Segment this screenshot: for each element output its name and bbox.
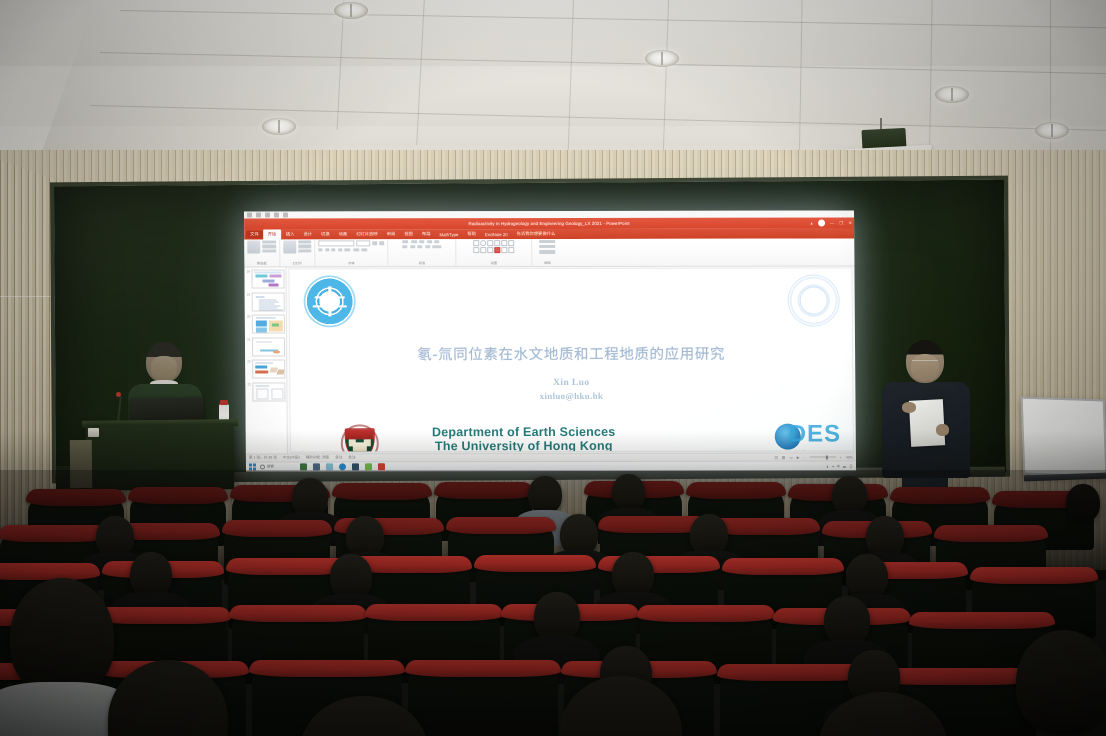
- tab-file[interactable]: 文件: [246, 231, 263, 239]
- thumbnail-preview[interactable]: [252, 359, 285, 378]
- shape-triangle-icon[interactable]: [501, 240, 507, 246]
- shape-gallery[interactable]: [473, 240, 514, 253]
- tab-insert[interactable]: 插入: [281, 231, 299, 237]
- tab-transitions[interactable]: 切换: [317, 231, 335, 237]
- ribbon-group-clipboard[interactable]: 剪贴板: [244, 239, 280, 266]
- account-avatar[interactable]: [818, 220, 825, 227]
- close-button[interactable]: ✕: [848, 220, 852, 226]
- cut-icon[interactable]: [262, 240, 276, 243]
- minimize-button[interactable]: —: [830, 221, 835, 226]
- copy-icon[interactable]: [262, 245, 276, 248]
- shadow-icon[interactable]: [338, 248, 342, 251]
- align-left-icon[interactable]: [402, 245, 407, 248]
- thumbnail-preview[interactable]: [252, 337, 285, 356]
- slide-title: 氡-氚同位素在水文地质和工程地质的应用研究: [290, 342, 852, 364]
- layout-icon[interactable]: [298, 240, 311, 243]
- shape-more-icon[interactable]: [508, 240, 514, 246]
- increase-font-icon[interactable]: [372, 242, 377, 245]
- audience-head: [534, 592, 580, 642]
- ceiling-downlight: [334, 2, 368, 19]
- thumbnail-number: 18: [247, 270, 250, 274]
- thumbnail-preview[interactable]: [252, 314, 285, 333]
- ceiling-downlight: [645, 50, 679, 67]
- ceiling-downlight: [1035, 122, 1069, 139]
- font-family-combo[interactable]: [318, 240, 354, 246]
- section-icon[interactable]: [298, 249, 311, 252]
- underline-icon[interactable]: [331, 248, 335, 251]
- audience-head: [612, 474, 645, 511]
- customize-toolbar-icon[interactable]: [283, 212, 288, 217]
- thumbnail-item[interactable]: 19: [246, 292, 285, 311]
- tab-design[interactable]: 设计: [299, 231, 317, 237]
- bullets-icon[interactable]: [402, 240, 408, 243]
- microphone-icon: [116, 392, 121, 397]
- cug-watermark-icon: [787, 274, 839, 326]
- decrease-font-icon[interactable]: [379, 242, 384, 245]
- line-spacing-icon[interactable]: [434, 240, 439, 243]
- group-label-drawing: 绘图: [491, 260, 498, 265]
- numbering-icon[interactable]: [411, 240, 417, 243]
- align-center-icon[interactable]: [410, 245, 415, 248]
- select-icon[interactable]: [539, 250, 555, 253]
- paste-icon[interactable]: [247, 241, 260, 254]
- shape-star-icon[interactable]: [480, 247, 486, 253]
- thumbnail-number: 21: [247, 337, 250, 341]
- strikethrough-icon[interactable]: [344, 248, 350, 251]
- group-label-clipboard: 剪贴板: [257, 260, 267, 265]
- bold-icon[interactable]: [318, 248, 322, 251]
- thumbnail-item[interactable]: 22: [246, 359, 285, 378]
- ribbon-group-slides[interactable]: 幻灯片: [280, 239, 315, 266]
- shape-line-icon[interactable]: [494, 240, 500, 246]
- group-label-font: 字体: [348, 260, 355, 265]
- thumbnail-number: 23: [247, 382, 250, 386]
- audience-head-foreground: [10, 578, 114, 696]
- char-spacing-icon[interactable]: [353, 248, 359, 251]
- tab-endnote[interactable]: EndNote 20: [480, 232, 512, 237]
- auditorium-seating: [0, 470, 1106, 736]
- ribbon-options-icon[interactable]: ▴: [810, 220, 812, 226]
- thumbnail-preview[interactable]: [252, 292, 285, 311]
- tab-view[interactable]: 视图: [400, 231, 418, 237]
- shape-outline-icon[interactable]: [501, 247, 507, 253]
- thumbnail-number: 22: [247, 360, 250, 364]
- shape-effects-icon[interactable]: [508, 247, 514, 253]
- replace-icon[interactable]: [539, 245, 555, 248]
- podium-person-face: [151, 356, 177, 380]
- audience-head: [528, 476, 562, 514]
- shape-arrow-icon[interactable]: [487, 240, 493, 246]
- thumbnail-item[interactable]: 23: [246, 382, 285, 401]
- thumbnail-item[interactable]: 20: [246, 314, 285, 333]
- ceiling-downlight: [262, 118, 296, 135]
- redo-icon[interactable]: [265, 212, 270, 217]
- tab-home[interactable]: 开始: [263, 229, 282, 239]
- window-controls[interactable]: ▴ — ❐ ✕: [810, 217, 852, 228]
- thumbnail-preview[interactable]: [252, 382, 285, 401]
- save-icon[interactable]: [247, 213, 252, 218]
- font-color-icon[interactable]: [361, 248, 367, 251]
- tab-review[interactable]: 审阅: [382, 231, 400, 237]
- thumbnail-preview[interactable]: [251, 269, 284, 288]
- presenter-face: [911, 354, 939, 381]
- audience-head: [824, 596, 870, 646]
- columns-icon[interactable]: [432, 245, 441, 248]
- slide-thumbnail-pane[interactable]: 18 19: [244, 267, 287, 453]
- window-title: Radioactivity in Hydrogeology and Engine…: [468, 221, 629, 226]
- decrease-indent-icon[interactable]: [419, 240, 424, 243]
- tab-slideshow[interactable]: 幻灯片放映: [352, 231, 383, 237]
- thumbnail-number: 19: [247, 292, 250, 296]
- new-slide-icon[interactable]: [283, 240, 296, 253]
- increase-indent-icon[interactable]: [427, 240, 432, 243]
- start-slideshow-icon[interactable]: [274, 212, 279, 217]
- ribbon[interactable]: 剪贴板 幻灯片: [244, 238, 854, 267]
- presenter-left-hand: [902, 402, 916, 413]
- slide-canvas[interactable]: 氡-氚同位素在水文地质和工程地质的应用研究 Xin Luo xinluo@hku…: [288, 267, 853, 452]
- water-bottle-cap: [220, 400, 228, 405]
- audience-head-foreground: [1016, 630, 1106, 734]
- undo-icon[interactable]: [256, 213, 261, 218]
- shape-rectangle-icon[interactable]: [473, 240, 479, 246]
- shape-oval-icon[interactable]: [480, 240, 486, 246]
- tell-me-search[interactable]: 告诉我你想要做什么: [512, 231, 560, 237]
- cug-emblem-icon: [303, 275, 355, 327]
- lecture-hall-scene: Radioactivity in Hydrogeology and Engine…: [0, 0, 1106, 736]
- italic-icon[interactable]: [325, 248, 329, 251]
- align-right-icon[interactable]: [417, 245, 422, 248]
- thumbnail-number: 20: [247, 315, 250, 319]
- shape-callout-icon[interactable]: [473, 247, 479, 253]
- find-icon[interactable]: [539, 240, 555, 243]
- justify-icon[interactable]: [425, 245, 430, 248]
- format-painter-icon[interactable]: [262, 249, 276, 252]
- group-label-editing: 编辑: [544, 260, 551, 265]
- restore-button[interactable]: ❐: [839, 220, 843, 226]
- tab-animations[interactable]: 动画: [334, 231, 352, 237]
- audience-head: [1066, 484, 1100, 522]
- seat: [408, 667, 558, 736]
- thumbnail-item[interactable]: 18: [245, 269, 284, 288]
- ribbon-group-paragraph[interactable]: 段落: [388, 239, 456, 266]
- tab-mathtype[interactable]: MathType: [435, 232, 463, 237]
- shape-banner-icon[interactable]: [487, 247, 493, 253]
- ribbon-group-editing[interactable]: 编辑: [532, 239, 562, 266]
- slide-email: xinluo@hku.hk: [290, 390, 852, 401]
- reset-icon[interactable]: [298, 245, 311, 248]
- shape-fill-icon[interactable]: [494, 247, 500, 253]
- ribbon-group-drawing[interactable]: 绘图: [456, 239, 532, 266]
- font-size-combo[interactable]: [356, 240, 370, 246]
- glasses-icon: [912, 360, 938, 365]
- thumbnail-item[interactable]: 21: [246, 337, 285, 356]
- tab-help[interactable]: 帮助: [463, 231, 481, 237]
- group-label-paragraph: 段落: [419, 260, 426, 265]
- group-label-slides: 幻灯片: [292, 260, 302, 265]
- slide-author: Xin Luo: [290, 377, 852, 388]
- tab-layout[interactable]: 布局: [417, 231, 435, 237]
- ribbon-group-font[interactable]: 字体: [315, 239, 388, 266]
- ceiling-downlight: [935, 86, 969, 103]
